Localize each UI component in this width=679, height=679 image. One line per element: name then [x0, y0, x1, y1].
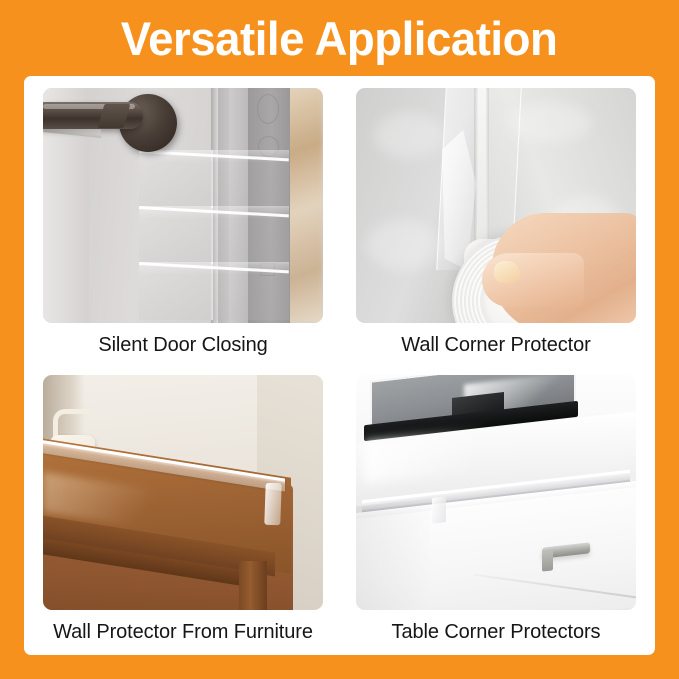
- corner-guard-strip: [139, 262, 289, 320]
- panel-grid: Silent Door Closing: [40, 88, 639, 655]
- corner-guard-strip: [139, 150, 289, 208]
- photo-wall-corner-protector: [356, 88, 636, 323]
- panel-wall-protector-from-furniture: Wall Protector From Furniture: [40, 375, 326, 656]
- cabinet-side-shadow: [356, 498, 430, 610]
- panel-caption: Wall Protector From Furniture: [53, 620, 313, 644]
- photo-wall-protector-from-furniture: [43, 375, 323, 610]
- guard-fold: [211, 262, 213, 320]
- page-title: Versatile Application: [121, 15, 558, 62]
- panel-caption: Wall Corner Protector: [401, 333, 590, 357]
- poster-root: Versatile Application: [0, 0, 679, 679]
- drawer-handle-leg: [542, 550, 553, 571]
- panel-silent-door-closing: Silent Door Closing: [40, 88, 326, 369]
- panel-table-corner-protectors: Table Corner Protectors: [353, 375, 639, 656]
- title-bar: Versatile Application: [0, 0, 679, 76]
- guard-fold: [211, 206, 213, 264]
- panel-wall-corner-protector: Wall Corner Protector: [353, 88, 639, 369]
- corner-guard-strip: [139, 206, 289, 264]
- fingernail: [494, 261, 520, 283]
- photo-table-corner-protectors: [356, 375, 636, 610]
- content-card: Silent Door Closing: [24, 76, 655, 655]
- guard-fold: [211, 150, 213, 208]
- jamb-oval-mark: [257, 94, 279, 124]
- edge-protector-corner-cap: [432, 496, 446, 524]
- panel-caption: Table Corner Protectors: [392, 620, 601, 644]
- panel-caption: Silent Door Closing: [98, 333, 267, 357]
- edge-protector-corner: [264, 482, 281, 525]
- table-leg: [239, 561, 267, 610]
- photo-silent-door-closing: [43, 88, 323, 323]
